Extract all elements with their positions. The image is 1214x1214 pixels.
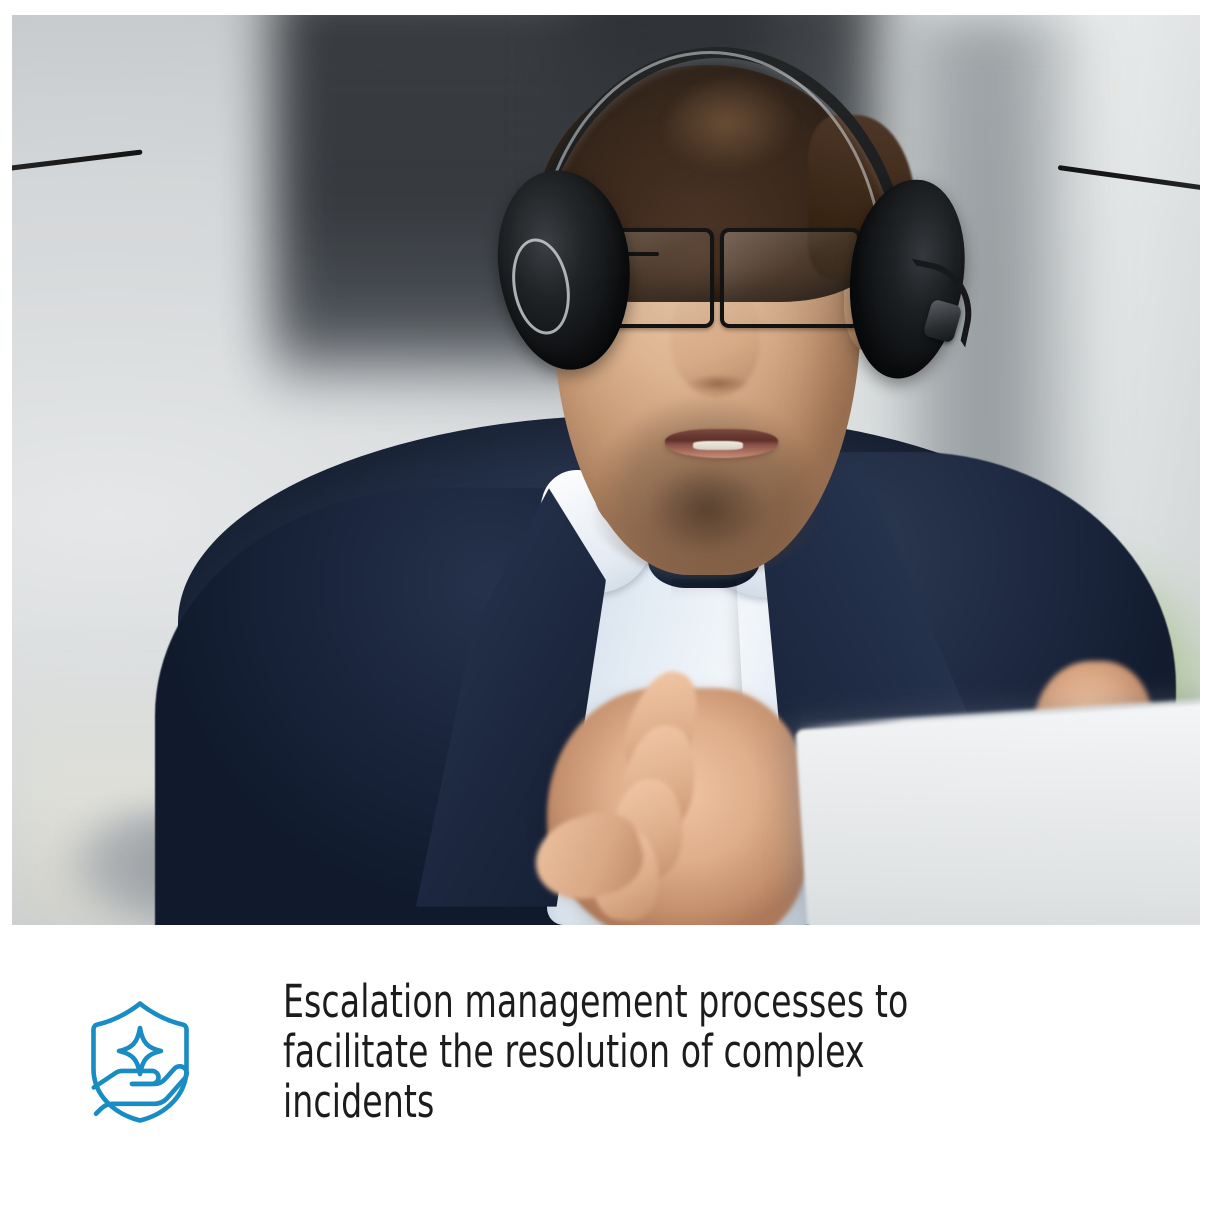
eyeglass-temple-right xyxy=(1058,165,1200,198)
caption-text: Escalation management processes to facil… xyxy=(283,977,931,1127)
nostril-shadow xyxy=(680,374,757,392)
caption-block: Escalation management processes to facil… xyxy=(0,925,1214,1214)
teeth xyxy=(693,441,743,450)
beard-chin xyxy=(630,461,784,570)
feature-card: Escalation management processes to facil… xyxy=(0,0,1214,1214)
eyeglass-temple-left xyxy=(12,149,142,177)
laptop xyxy=(795,702,1200,925)
hero-photo xyxy=(12,15,1200,925)
shield-hand-sparkle-icon xyxy=(74,995,206,1127)
